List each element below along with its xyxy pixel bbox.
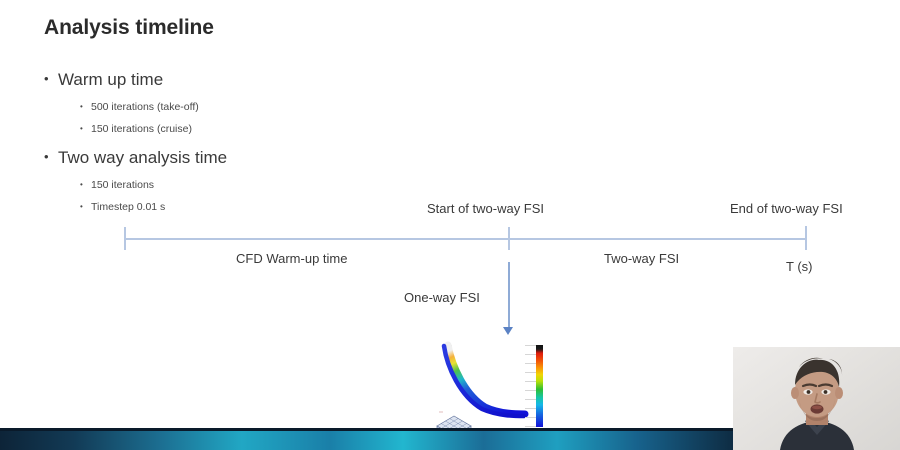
bullet-label: Warm up time xyxy=(58,70,163,89)
timeline-tick-two-way-start xyxy=(508,227,510,250)
bullet-dot-icon: • xyxy=(80,102,91,111)
bullet-two-way-analysis-time: •Two way analysis time xyxy=(44,148,227,168)
bullet-label: Two way analysis time xyxy=(58,148,227,167)
label-cfd-warmup-time: CFD Warm-up time xyxy=(236,251,347,266)
bullet-dot-icon: • xyxy=(80,124,91,133)
timeline-tick-end xyxy=(805,226,807,250)
rainbow-colorbar-icon xyxy=(536,345,543,427)
label-one-way-fsi: One-way FSI xyxy=(404,290,480,305)
colorbar-tick-marks xyxy=(525,345,536,427)
bullet-warm-up-time: •Warm up time xyxy=(44,70,163,90)
water-surface-band-edge xyxy=(0,428,733,431)
sub-bullet-label: 150 iterations (cruise) xyxy=(91,123,192,135)
down-arrow-icon xyxy=(503,327,513,335)
label-time-axis: T (s) xyxy=(786,259,812,274)
timeline-axis xyxy=(124,238,806,240)
bullet-dot-icon: • xyxy=(44,71,58,86)
presenter-avatar xyxy=(733,347,900,450)
page-title: Analysis timeline xyxy=(44,16,214,40)
water-surface-band xyxy=(0,428,733,450)
slide-canvas: Analysis timeline •Warm up time •500 ite… xyxy=(0,0,900,450)
bullet-dot-icon: • xyxy=(80,180,91,189)
label-start-of-two-way-fsi: Start of two-way FSI xyxy=(427,201,544,216)
timeline-tick-start xyxy=(124,227,126,250)
bullet-dot-icon: • xyxy=(44,149,58,164)
label-end-of-two-way-fsi: End of two-way FSI xyxy=(730,201,843,216)
one-way-fsi-connector-line xyxy=(508,262,510,328)
sub-bullet-150-iterations: •150 iterations xyxy=(80,179,154,191)
label-two-way-fsi: Two-way FSI xyxy=(604,251,679,266)
sub-bullet-label: 500 iterations (take-off) xyxy=(91,101,199,113)
sub-bullet-label: Timestep 0.01 s xyxy=(91,201,165,213)
presenter-webcam[interactable] xyxy=(733,347,900,450)
sub-bullet-timestep: •Timestep 0.01 s xyxy=(80,201,165,213)
sub-bullet-150-iterations-cruise: •150 iterations (cruise) xyxy=(80,123,192,135)
sub-bullet-label: 150 iterations xyxy=(91,179,154,191)
bullet-dot-icon: • xyxy=(80,202,91,211)
sub-bullet-500-iterations: •500 iterations (take-off) xyxy=(80,101,199,113)
